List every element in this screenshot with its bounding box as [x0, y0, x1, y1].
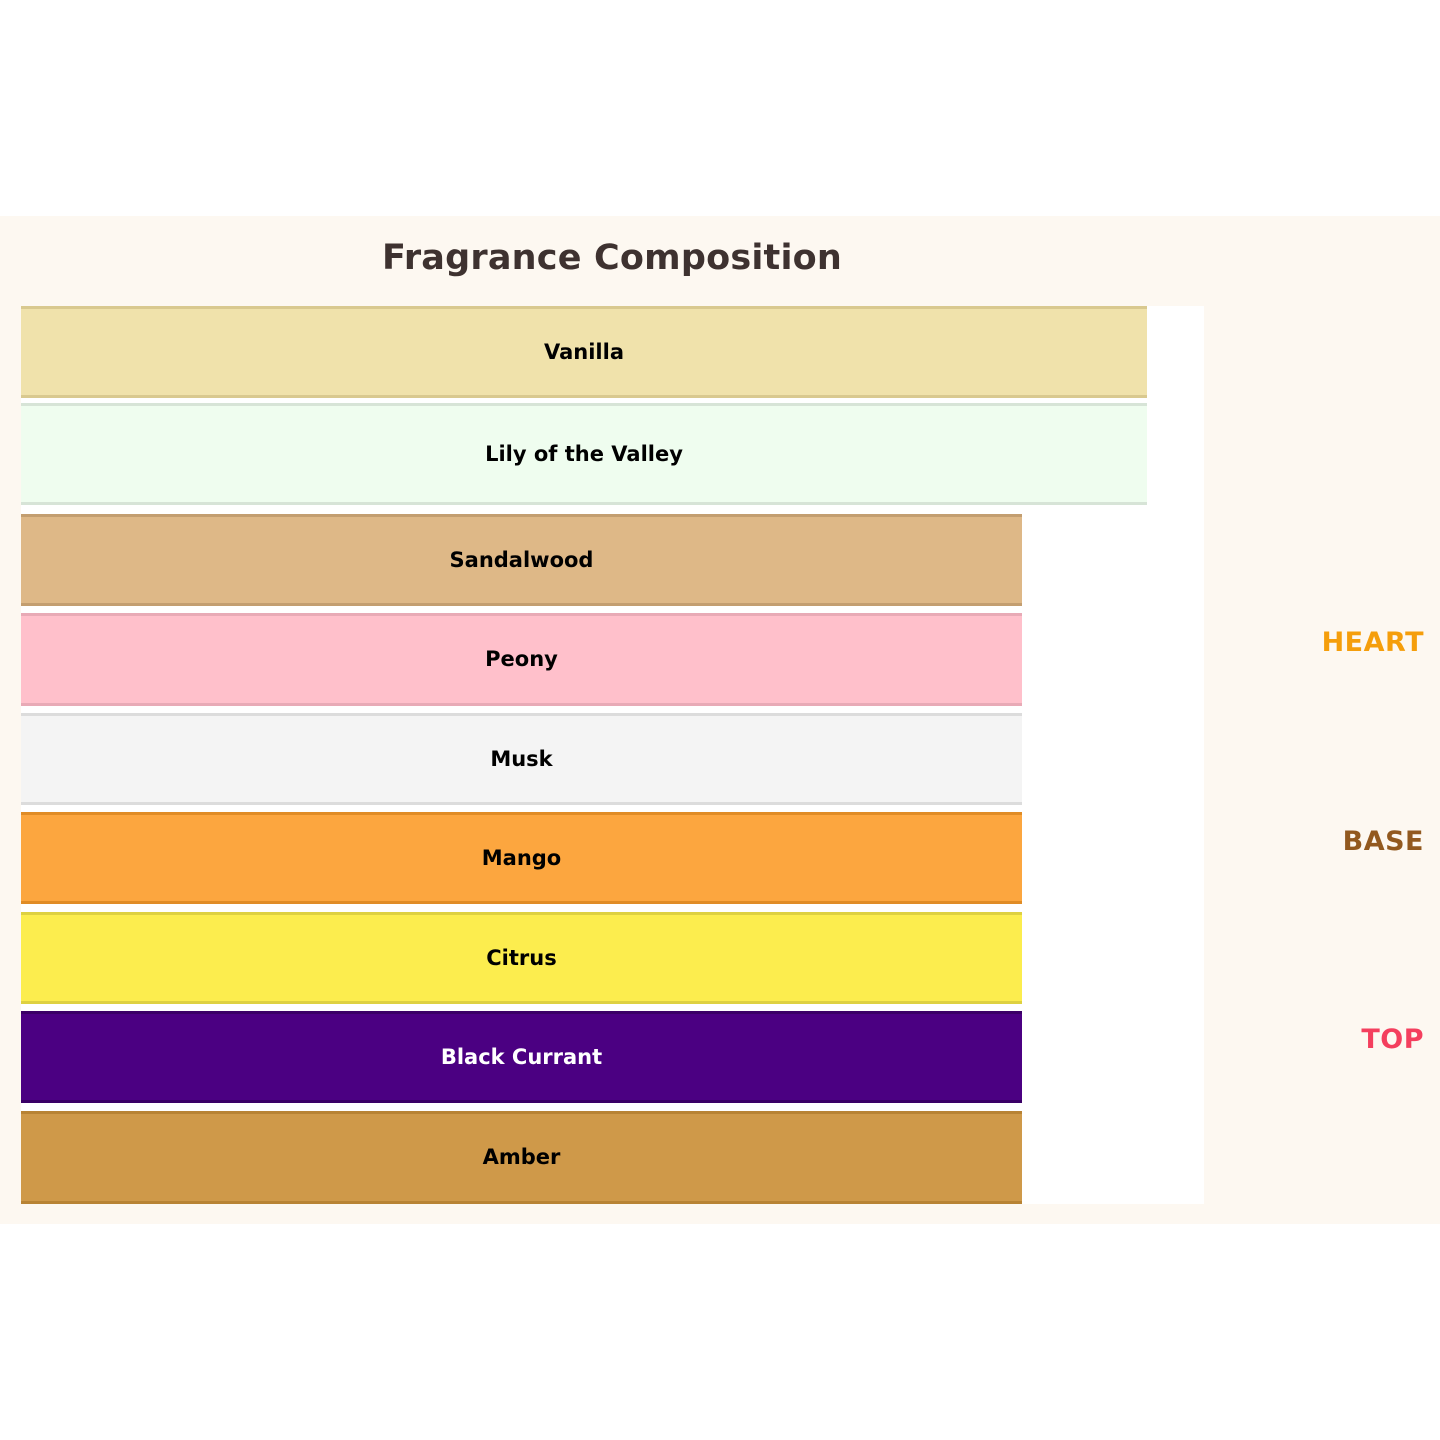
- bar-citrus[interactable]: Citrus: [21, 912, 1022, 1004]
- chart-title: Fragrance Composition: [0, 238, 1224, 278]
- bar-vanilla[interactable]: Vanilla: [21, 306, 1147, 398]
- bar-label: Lily of the Valley: [485, 444, 683, 465]
- bar-mango[interactable]: Mango: [21, 812, 1022, 904]
- bar-black-currant[interactable]: Black Currant: [21, 1011, 1022, 1103]
- bar-sandalwood[interactable]: Sandalwood: [21, 514, 1022, 606]
- bar-peony[interactable]: Peony: [21, 613, 1022, 706]
- bar-label: Amber: [483, 1147, 561, 1168]
- bar-label: Peony: [485, 649, 558, 670]
- bar-label: Citrus: [486, 948, 556, 969]
- bar-label: Mango: [482, 848, 561, 869]
- note-family-label-heart: HEART: [1200, 629, 1424, 656]
- note-family-label-top: TOP: [1200, 1026, 1424, 1053]
- bar-lily-of-the-valley[interactable]: Lily of the Valley: [21, 403, 1147, 505]
- bar-label: Musk: [490, 749, 552, 770]
- bar-label: Vanilla: [544, 342, 624, 363]
- figure-canvas: Fragrance Composition VanillaLily of the…: [0, 216, 1440, 1224]
- bar-label: Sandalwood: [450, 550, 594, 571]
- note-family-label-base: BASE: [1200, 828, 1424, 855]
- bar-musk[interactable]: Musk: [21, 713, 1022, 805]
- bar-amber[interactable]: Amber: [21, 1111, 1022, 1204]
- bar-label: Black Currant: [441, 1047, 602, 1068]
